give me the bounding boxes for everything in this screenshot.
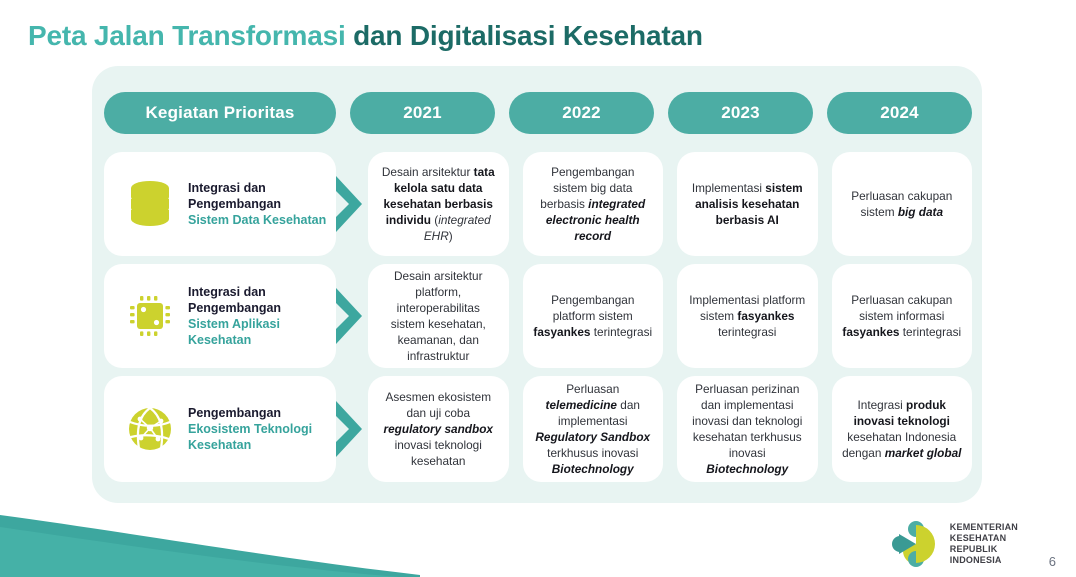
logo-line-3: REPUBLIK <box>950 544 1018 555</box>
cell-sistem-aplikasi-2021[interactable]: Desain arsitektur platform, interoperabi… <box>368 264 509 368</box>
page-number: 6 <box>1049 554 1056 569</box>
cell-sistem-data-2021[interactable]: Desain arsitektur tata kelola satu data … <box>368 152 509 256</box>
cell-ekosistem-teknologi-2023[interactable]: Perluasan perizinan dan implementasi ino… <box>677 376 818 482</box>
header-pill-2024[interactable]: 2024 <box>827 92 972 134</box>
header-pill-2022[interactable]: 2022 <box>509 92 654 134</box>
page-title: Peta Jalan Transformasi dan Digitalisasi… <box>28 20 703 52</box>
row-label-teal-3: Ekosistem Teknologi Kesehatan <box>188 422 312 452</box>
header-pill-kegiatan-prioritas[interactable]: Kegiatan Prioritas <box>104 92 336 134</box>
header-pill-2023[interactable]: 2023 <box>668 92 813 134</box>
roadmap-grid: Integrasi dan Pengembangan Sistem Data K… <box>104 152 972 490</box>
decorative-swoosh <box>0 497 420 577</box>
cell-sistem-data-2023[interactable]: Implementasi sistem analisis kesehatan b… <box>677 152 818 256</box>
row-label-text-ekosistem-teknologi: Pengembangan Ekosistem Teknologi Kesehat… <box>182 405 330 453</box>
logo-line-2: KESEHATAN <box>950 533 1018 544</box>
row-label-text-sistem-data: Integrasi dan Pengembangan Sistem Data K… <box>182 180 330 228</box>
page-title-part2: dan Digitalisasi Kesehatan <box>346 20 703 51</box>
chevron-right-icon <box>332 398 366 460</box>
roadmap-row-sistem-aplikasi: Integrasi dan Pengembangan Sistem Aplika… <box>104 264 972 368</box>
chevron-right-icon <box>332 173 366 235</box>
cell-ekosistem-teknologi-2024[interactable]: Integrasi produk inovasi teknologi keseh… <box>832 376 973 482</box>
cell-sistem-aplikasi-2023[interactable]: Implementasi platform sistem fasyankes t… <box>677 264 818 368</box>
row-label-dark-3: Pengembangan <box>188 406 281 420</box>
row-label-teal-2: Sistem Aplikasi Kesehatan <box>188 317 280 347</box>
logo-line-1: KEMENTERIAN <box>950 522 1018 533</box>
cell-sistem-data-2024[interactable]: Perluasan cakupan sistem big data <box>832 152 973 256</box>
cell-sistem-data-2022[interactable]: Pengembangan sistem big data berbasis in… <box>523 152 664 256</box>
row-label-sistem-data[interactable]: Integrasi dan Pengembangan Sistem Data K… <box>104 152 336 256</box>
row-label-sistem-aplikasi[interactable]: Integrasi dan Pengembangan Sistem Aplika… <box>104 264 336 368</box>
ministry-logo: KEMENTERIAN KESEHATAN REPUBLIK INDONESIA <box>890 519 1018 569</box>
cell-sistem-aplikasi-2024[interactable]: Perluasan cakupan sistem informasi fasya… <box>832 264 973 368</box>
cell-ekosistem-teknologi-2021[interactable]: Asesmen ekosistem dan uji coba regulator… <box>368 376 509 482</box>
cell-sistem-aplikasi-2022[interactable]: Pengembangan platform sistem fasyankes t… <box>523 264 664 368</box>
row-label-dark-1: Integrasi dan Pengembangan <box>188 181 281 211</box>
row-label-text-sistem-aplikasi: Integrasi dan Pengembangan Sistem Aplika… <box>182 284 330 348</box>
microchip-icon <box>118 292 182 340</box>
globe-network-icon <box>118 404 182 454</box>
roadmap-row-sistem-data: Integrasi dan Pengembangan Sistem Data K… <box>104 152 972 256</box>
roadmap-row-ekosistem-teknologi: Pengembangan Ekosistem Teknologi Kesehat… <box>104 376 972 482</box>
row-label-teal-1: Sistem Data Kesehatan <box>188 213 326 227</box>
header-row: Kegiatan Prioritas 2021 2022 2023 2024 <box>104 92 972 134</box>
ministry-logo-text: KEMENTERIAN KESEHATAN REPUBLIK INDONESIA <box>950 522 1018 566</box>
page-title-part1: Peta Jalan Transformasi <box>28 20 346 51</box>
row-label-ekosistem-teknologi[interactable]: Pengembangan Ekosistem Teknologi Kesehat… <box>104 376 336 482</box>
database-icon <box>118 179 182 229</box>
row-label-dark-2: Integrasi dan Pengembangan <box>188 285 281 315</box>
logo-line-4: INDONESIA <box>950 555 1018 566</box>
cell-ekosistem-teknologi-2022[interactable]: Perluasan telemedicine dan implementasi … <box>523 376 664 482</box>
chevron-right-icon <box>332 285 366 347</box>
header-pill-2021[interactable]: 2021 <box>350 92 495 134</box>
kemenkes-logo-icon <box>890 519 942 569</box>
